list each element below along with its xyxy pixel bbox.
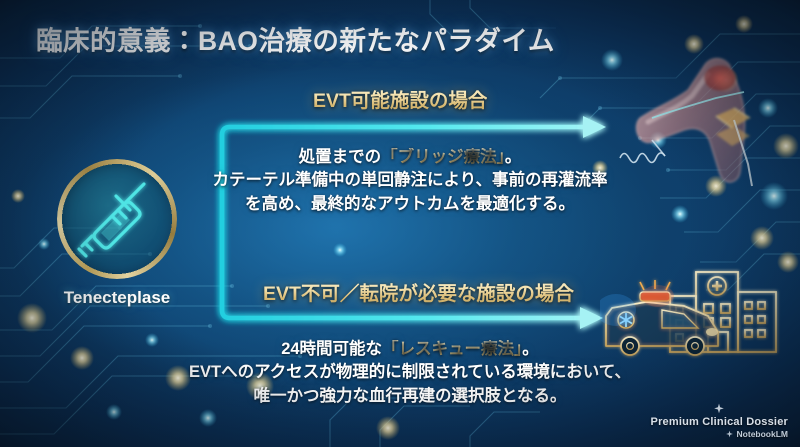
footer-title: Premium Clinical Dossier	[651, 416, 788, 428]
slide-canvas: 臨床的意義：BAO治療の新たなパラダイム	[0, 0, 800, 447]
sparkle-icon	[713, 403, 725, 415]
footer-branding: Premium Clinical Dossier NotebookLM	[651, 403, 788, 439]
footer-subtitle: NotebookLM	[651, 429, 788, 439]
vignette-overlay	[0, 0, 800, 447]
footer-subtitle-text: NotebookLM	[737, 429, 788, 439]
notebooklm-icon	[725, 430, 734, 439]
